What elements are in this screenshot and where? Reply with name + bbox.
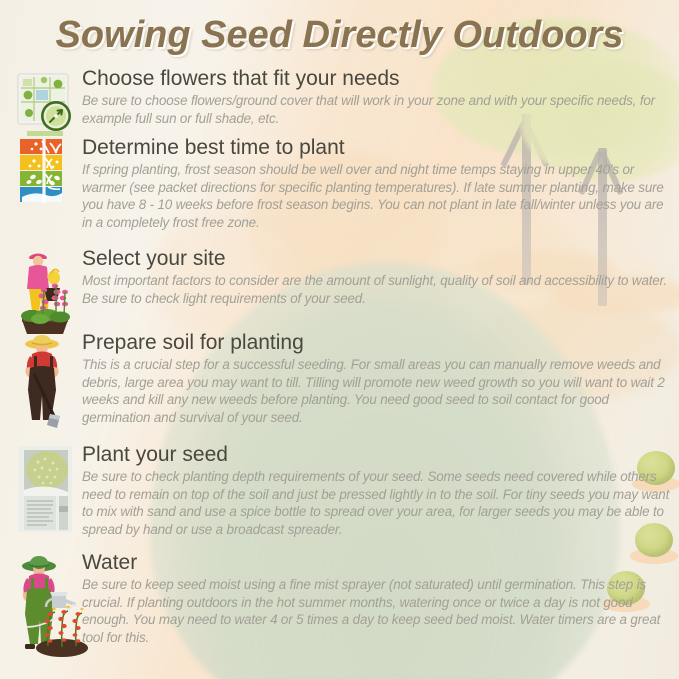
step-heading: Water: [82, 552, 670, 575]
farmer-with-shovel-icon: [14, 332, 76, 406]
seed-packet-icon: [14, 444, 76, 518]
step-body: Be sure to keep seed moist using a fine …: [82, 576, 670, 647]
step-heading: Choose flowers that fit your needs: [82, 68, 670, 91]
step-heading: Prepare soil for planting: [82, 332, 670, 355]
step-body: Be sure to choose flowers/ground cover t…: [82, 92, 670, 128]
step-text-block: Choose flowers that fit your needs Be su…: [82, 68, 670, 127]
step-body: Be sure to check planting depth requirem…: [82, 468, 670, 539]
gardener-with-flowers-icon: [14, 248, 76, 322]
step-text-block: Prepare soil for planting This is a cruc…: [82, 332, 670, 427]
garden-plan-compass-icon: [14, 68, 76, 142]
step-text-block: Determine best time to plant If spring p…: [82, 137, 670, 232]
step-text-block: Water Be sure to keep seed moist using a…: [82, 552, 670, 647]
step-heading: Select your site: [82, 248, 670, 271]
step-body: This is a crucial step for a successful …: [82, 356, 670, 427]
step-body: Most important factors to consider are t…: [82, 272, 670, 308]
step-text-block: Select your site Most important factors …: [82, 248, 670, 307]
infographic-poster: Sowing Seed Directly Outdoors: [0, 0, 679, 679]
step-text-block: Plant your seed Be sure to check plantin…: [82, 444, 670, 539]
step-heading: Plant your seed: [82, 444, 670, 467]
step-heading: Determine best time to plant: [82, 137, 670, 160]
step-body: If spring planting, frost season should …: [82, 161, 670, 232]
gardener-watering-can-icon: [14, 552, 90, 662]
four-seasons-icon: [14, 137, 76, 211]
page-title: Sowing Seed Directly Outdoors: [0, 14, 679, 57]
